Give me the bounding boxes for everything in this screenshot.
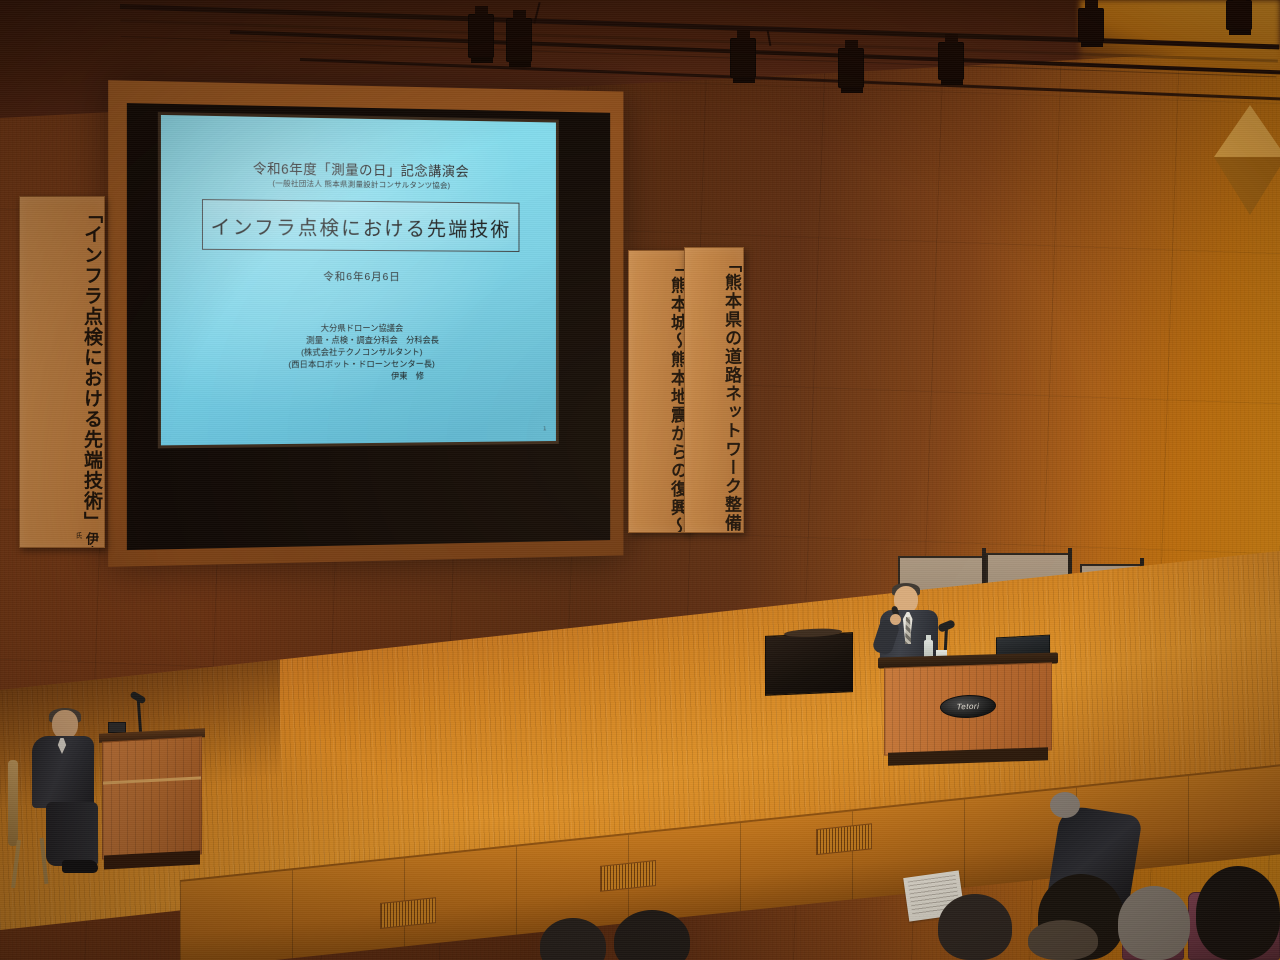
main-podium: Tetori (884, 655, 1052, 765)
slide-page-number: 1 (543, 426, 546, 432)
attendee-head (1050, 792, 1080, 818)
slide-title: インフラ点検における先端技術 (211, 210, 512, 242)
stage-spotlight (1078, 8, 1104, 42)
projection-screen-bezel: 令和6年度「測量の日」記念講演会 (一般社団法人 熊本県測量設計コンサルタンツ協… (158, 112, 559, 449)
audience-head (540, 918, 606, 960)
banner-kumamoto-castle: 「熊本城〜熊本地震からの復興〜」 渡辺 広樹 氏 講師：熊本市文化市民局 熊本城… (628, 250, 690, 533)
wall-diamond-relief (1214, 105, 1280, 215)
attendant-head (52, 710, 78, 739)
slide-credits: 大分県ドローン協議会 測量・点検・調査分科会 分科会長 (株式会社テクノコンサル… (161, 323, 556, 384)
banner-speaker-block: 伊東 修 氏 (72, 532, 101, 548)
credit-line-2: 測量・点検・調査分科会 分科会長 (161, 335, 556, 348)
stage-spotlight (730, 38, 756, 78)
audience-head (1028, 920, 1098, 960)
stage-spotlight (468, 14, 494, 58)
stage-spotlight (1226, 0, 1252, 30)
slide-title-box: インフラ点検における先端技術 (202, 199, 519, 252)
banner-title: 「インフラ点検における先端技術」 (81, 204, 101, 532)
banner-infrastructure-inspection: 「インフラ点検における先端技術」 伊東 修 氏 講師：大分県ドローン協議会 測量… (19, 196, 105, 548)
banner-road-network: 「熊本県の道路ネットワーク整備」 奥山 和弘 氏 講師：熊本県土木部道路都市局道… (684, 247, 744, 533)
banner-speaker-name: 伊東 修 (82, 532, 101, 548)
banner-name-suffix: 氏 (72, 532, 82, 539)
stage-spotlight (838, 48, 864, 88)
podium-control-box (108, 722, 126, 733)
stage-speaker-cabinet (765, 632, 853, 696)
projection-screen: 令和6年度「測量の日」記念講演会 (一般社団法人 熊本県測量設計コンサルタンツ協… (161, 115, 556, 445)
credit-line-1: 大分県ドローン協議会 (161, 323, 556, 335)
audience-row (0, 790, 1280, 960)
audience-head (1118, 886, 1190, 960)
auditorium-photo: 令和6年度「測量の日」記念講演会 (一般社団法人 熊本県測量設計コンサルタンツ協… (0, 0, 1280, 960)
relief-lower-facet (1214, 157, 1280, 215)
stage-spotlight (938, 42, 964, 80)
audience-head (1196, 866, 1280, 960)
presentation-slide: 令和6年度「測量の日」記念講演会 (一般社団法人 熊本県測量設計コンサルタンツ協… (161, 115, 556, 445)
stage-proscenium-frame: 令和6年度「測量の日」記念講演会 (一般社団法人 熊本県測量設計コンサルタンツ協… (108, 80, 623, 567)
audience-head (614, 910, 690, 960)
audience-head (938, 894, 1012, 960)
stage-spotlight (506, 18, 532, 62)
banner-title: 「熊本県の道路ネットワーク整備」 (722, 255, 740, 533)
relief-upper-facet (1214, 105, 1280, 157)
credit-line-5: 伊東 修 (161, 370, 556, 384)
presenter-hand (890, 614, 901, 625)
slide-date: 令和6年6月6日 (161, 268, 556, 285)
